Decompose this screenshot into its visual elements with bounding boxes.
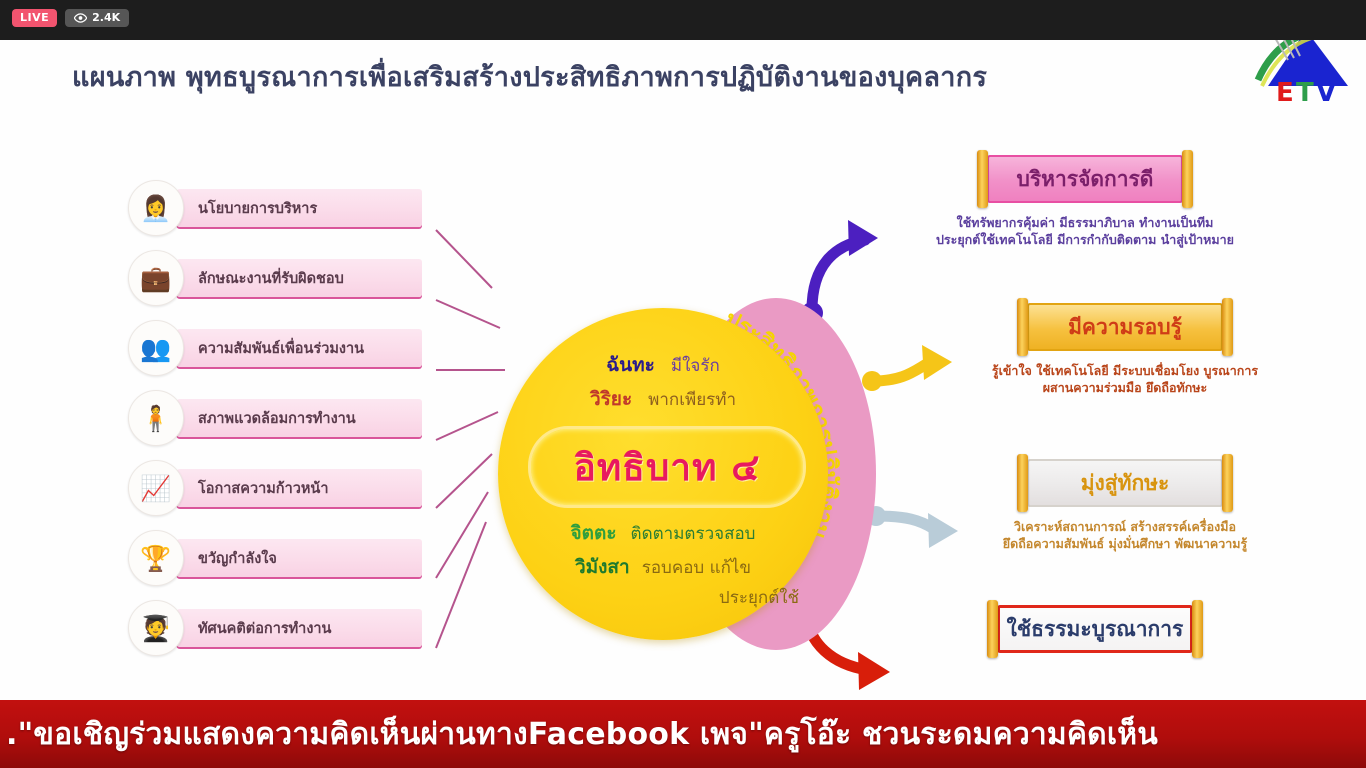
- etv-logo: E T V: [1248, 40, 1358, 108]
- principle-term-0: ฉันทะ: [606, 354, 655, 376]
- svg-text:E: E: [1276, 78, 1294, 108]
- outcome-desc-1-line2: ผสานความร่วมมือ ยึดถือทักษะ: [925, 380, 1325, 397]
- factor-pill-0: นโยบายการบริหาร: [176, 189, 422, 227]
- outcome-1[interactable]: มีความรอบรู้ รู้เข้าใจ ใช้เทคโนโลยี มีระ…: [925, 296, 1325, 397]
- viewer-count-value: 2.4K: [92, 12, 120, 23]
- page-title: แผนภาพ พุทธบูรณาการเพื่อเสริมสร้างประสิท…: [72, 55, 1272, 98]
- scroll-rod-left-3: [987, 600, 998, 658]
- outcome-title-1: มีความรอบรู้: [1068, 311, 1182, 344]
- svg-text:T: T: [1296, 78, 1314, 108]
- principle-meaning-2: ติดตามตรวจสอบ: [631, 524, 756, 544]
- factor-label-4: โอกาสความก้าวหน้า: [198, 477, 329, 500]
- live-stream-stage: LIVE 2.4K แผนภาพ พุทธบูรณาการเพื่อเสริมส…: [0, 0, 1366, 768]
- svg-text:V: V: [1316, 78, 1336, 108]
- outcome-title-2: มุ่งสู่ทักษะ: [1081, 467, 1170, 500]
- scroll-rod-left-2: [1017, 454, 1028, 512]
- principle-term-3: วิมังสา: [575, 556, 630, 578]
- factor-pill-3: สภาพแวดล้อมการทำงาน: [176, 399, 422, 437]
- scroll-rod-left-1: [1017, 298, 1028, 356]
- factor-item-5[interactable]: 🏆 ขวัญกำลังใจ: [128, 535, 422, 581]
- policy-people-icon: 👩‍💼: [128, 180, 184, 236]
- outcome-desc-1: รู้เข้าใจ ใช้เทคโนโลยี มีระบบเชื่อมโยง บ…: [925, 363, 1325, 397]
- outcome-2[interactable]: มุ่งสู่ทักษะ วิเคราะห์สถานการณ์ สร้างสรร…: [925, 452, 1325, 553]
- factor-label-2: ความสัมพันธ์เพื่อนร่วมงาน: [198, 337, 364, 360]
- factor-label-0: นโยบายการบริหาร: [198, 197, 317, 220]
- scroll-rod-right-0: [1182, 150, 1193, 208]
- worker-icon: 🧍: [128, 390, 184, 446]
- live-badge[interactable]: LIVE: [12, 9, 57, 27]
- scroll-rod-right-1: [1222, 298, 1233, 356]
- factor-pill-5: ขวัญกำลังใจ: [176, 539, 422, 577]
- factor-item-2[interactable]: 👥 ความสัมพันธ์เพื่อนร่วมงาน: [128, 325, 422, 371]
- viewer-count-badge: 2.4K: [65, 9, 129, 27]
- presentation-slide: แผนภาพ พุทธบูรณาการเพื่อเสริมสร้างประสิท…: [0, 40, 1366, 705]
- factor-pill-1: ลักษณะงานที่รับผิดชอบ: [176, 259, 422, 297]
- factor-item-1[interactable]: 💼 ลักษณะงานที่รับผิดชอบ: [128, 255, 422, 301]
- principle-meaning-0: มีใจรัก: [671, 356, 720, 376]
- principle-row-4: ประยุกต์ใช้: [498, 584, 924, 611]
- scroll-rod-right-3: [1192, 600, 1203, 658]
- scroll-paper-2: มุ่งสู่ทักษะ: [1027, 459, 1223, 507]
- scroll-banner-1: มีความรอบรู้: [1017, 296, 1233, 358]
- principle-meaning-3: รอบคอบ แก้ไข: [642, 558, 751, 578]
- trophy-icon: 🏆: [128, 530, 184, 586]
- principle-meaning-1: พากเพียรทำ: [648, 390, 736, 410]
- factor-item-3[interactable]: 🧍 สภาพแวดล้อมการทำงาน: [128, 395, 422, 441]
- outcome-title-0: บริหารจัดการดี: [1017, 163, 1154, 196]
- scroll-banner-3: ใช้ธรรมะบูรณาการ: [987, 598, 1203, 660]
- factor-label-5: ขวัญกำลังใจ: [198, 547, 277, 570]
- factor-pill-6: ทัศนคติต่อการทำงาน: [176, 609, 422, 647]
- outcome-3[interactable]: ใช้ธรรมะบูรณาการ: [895, 598, 1295, 665]
- principle-row-2: จิตตะติดตามตรวจสอบ: [498, 518, 828, 548]
- principle-term-2: จิตตะ: [571, 522, 617, 544]
- stream-badges: LIVE 2.4K: [12, 9, 129, 27]
- factor-pill-4: โอกาสความก้าวหน้า: [176, 469, 422, 507]
- principle-row-3: วิมังสารอบคอบ แก้ไข: [498, 552, 828, 582]
- outcome-desc-2-line1: วิเคราะห์สถานการณ์ สร้างสรรค์เครื่องมือ: [925, 519, 1325, 536]
- scroll-rod-left-0: [977, 150, 988, 208]
- factor-label-1: ลักษณะงานที่รับผิดชอบ: [198, 267, 344, 290]
- outcome-desc-0: ใช้ทรัพยากรคุ้มค่า มีธรรมาภิบาล ทำงานเป็…: [885, 215, 1285, 249]
- core-headline: อิทธิบาท ๔: [574, 438, 761, 497]
- scroll-paper-3: ใช้ธรรมะบูรณาการ: [997, 605, 1193, 653]
- principle-row-1: วิริยะพากเพียรทำ: [498, 384, 828, 414]
- outcome-desc-2: วิเคราะห์สถานการณ์ สร้างสรรค์เครื่องมือ …: [925, 519, 1325, 553]
- scroll-paper-1: มีความรอบรู้: [1027, 303, 1223, 351]
- news-ticker: ."ขอเชิญร่วมแสดงความคิดเห็นผ่านทางFacebo…: [0, 700, 1366, 768]
- factor-item-0[interactable]: 👩‍💼 นโยบายการบริหาร: [128, 185, 422, 231]
- growth-chart-icon: 📈: [128, 460, 184, 516]
- outcome-title-3: ใช้ธรรมะบูรณาการ: [1007, 613, 1184, 646]
- factor-label-6: ทัศนคติต่อการทำงาน: [198, 617, 331, 640]
- outcome-desc-1-line1: รู้เข้าใจ ใช้เทคโนโลยี มีระบบเชื่อมโยง บ…: [925, 363, 1325, 380]
- principle-row-0: ฉันทะมีใจรัก: [498, 350, 828, 380]
- colleagues-icon: 👥: [128, 320, 184, 376]
- eye-icon: [74, 13, 87, 23]
- outcome-desc-2-line2: ยึดถือความสัมพันธ์ มุ่งมั่นศึกษา พัฒนาคว…: [925, 536, 1325, 553]
- factor-item-4[interactable]: 📈 โอกาสความก้าวหน้า: [128, 465, 422, 511]
- factor-label-3: สภาพแวดล้อมการทำงาน: [198, 407, 356, 430]
- briefcase-icon: 💼: [128, 250, 184, 306]
- top-letterbox-bar: [0, 0, 1366, 40]
- core-cluster: ประสิทธิภาพการปฏิบัติงาน ฉันทะมีใจรัก วิ…: [480, 298, 900, 658]
- outcome-0[interactable]: บริหารจัดการดี ใช้ทรัพยากรคุ้มค่า มีธรรม…: [885, 148, 1285, 249]
- scroll-banner-2: มุ่งสู่ทักษะ: [1017, 452, 1233, 514]
- scroll-rod-right-2: [1222, 454, 1233, 512]
- ticker-text: ."ขอเชิญร่วมแสดงความคิดเห็นผ่านทางFacebo…: [0, 711, 1158, 758]
- factor-pill-2: ความสัมพันธ์เพื่อนร่วมงาน: [176, 329, 422, 367]
- attitude-face-icon: 🧑‍🎓: [128, 600, 184, 656]
- scroll-paper-0: บริหารจัดการดี: [987, 155, 1183, 203]
- scroll-banner-0: บริหารจัดการดี: [977, 148, 1193, 210]
- core-headline-frame: อิทธิบาท ๔: [528, 426, 806, 508]
- factor-item-6[interactable]: 🧑‍🎓 ทัศนคติต่อการทำงาน: [128, 605, 422, 651]
- iddhipada-core[interactable]: ฉันทะมีใจรัก วิริยะพากเพียรทำ อิทธิบาท ๔…: [498, 308, 828, 640]
- principle-term-1: วิริยะ: [590, 388, 632, 410]
- outcome-desc-0-line1: ใช้ทรัพยากรคุ้มค่า มีธรรมาภิบาล ทำงานเป็…: [885, 215, 1285, 232]
- outcome-desc-0-line2: ประยุกต์ใช้เทคโนโลยี มีการกำกับติดตาม นำ…: [885, 232, 1285, 249]
